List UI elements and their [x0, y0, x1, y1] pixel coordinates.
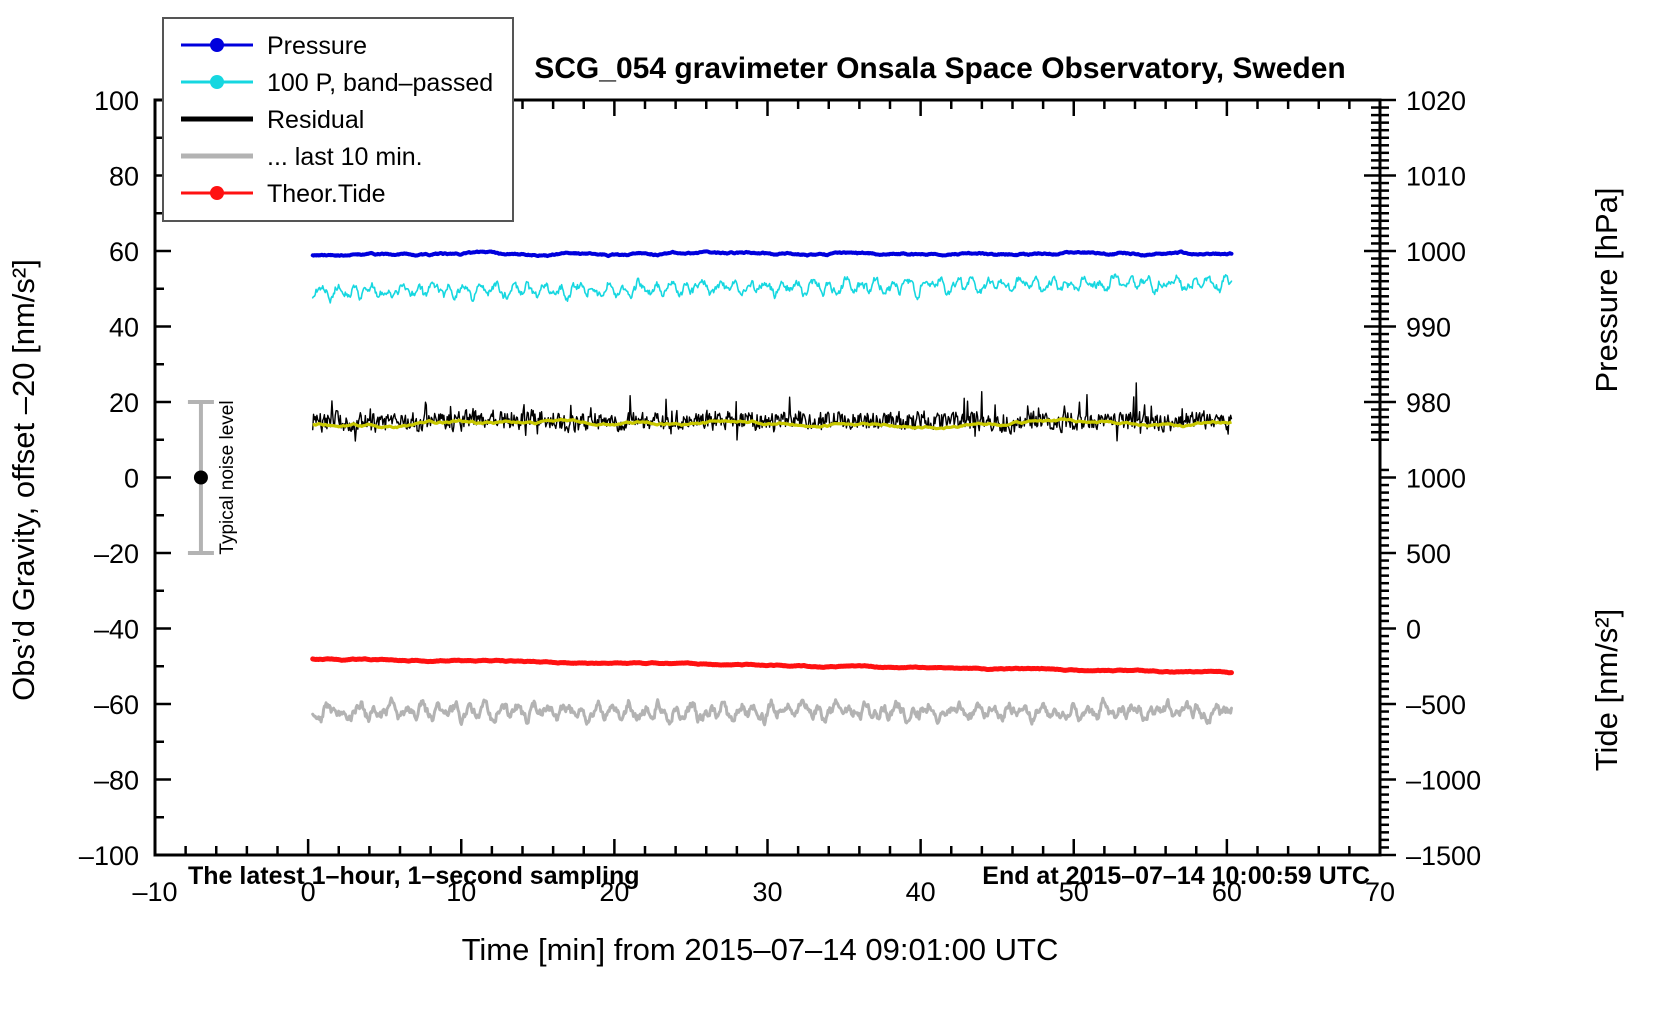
- tide-tick-label: 500: [1406, 539, 1451, 569]
- pressure-tick-label: 1010: [1406, 162, 1466, 192]
- tide-tick-label: 0: [1406, 615, 1421, 645]
- tide-tick-label: –1500: [1406, 841, 1481, 871]
- y-tick-label: –60: [94, 690, 139, 720]
- x-tick-label: 30: [752, 877, 782, 907]
- y-tick-label: –100: [79, 841, 139, 871]
- y-tick-label: 20: [109, 388, 139, 418]
- legend-marker-0: [210, 38, 224, 52]
- y-tick-label: 40: [109, 313, 139, 343]
- legend-label-0[interactable]: Pressure: [267, 32, 367, 60]
- legend-label-4[interactable]: Theor.Tide: [267, 180, 386, 208]
- chart-title: SCG_054 gravimeter Onsala Space Observat…: [534, 52, 1346, 85]
- pressure-tick-label: 980: [1406, 388, 1451, 418]
- y-axis-title: Obs’d Gravity, offset –20 [nm/s²]: [6, 259, 41, 701]
- y-tick-label: 60: [109, 237, 139, 267]
- tide-axis-title: Tide [nm/s²]: [1589, 609, 1624, 772]
- y-tick-label: 80: [109, 162, 139, 192]
- legend-label-1[interactable]: 100 P, band–passed: [267, 69, 493, 97]
- legend-label-2[interactable]: Residual: [267, 106, 364, 134]
- legend-label-3[interactable]: ... last 10 min.: [267, 143, 423, 171]
- tide-tick-label: –500: [1406, 690, 1466, 720]
- tide-tick-label: 1000: [1406, 464, 1466, 494]
- x-tick-label: 40: [906, 877, 936, 907]
- y-tick-label: –80: [94, 766, 139, 796]
- legend-marker-4: [210, 186, 224, 200]
- y-tick-label: –40: [94, 615, 139, 645]
- tide-tick-label: –1000: [1406, 766, 1481, 796]
- pressure-tick-label: 990: [1406, 313, 1451, 343]
- y-tick-label: 100: [94, 86, 139, 116]
- noise-center-dot: [194, 471, 208, 485]
- annotation-end-time: End at 2015–07–14 10:00:59 UTC: [982, 862, 1370, 890]
- gravimeter-plot-page: –10010203040506070 –100–80–60–40–2002040…: [0, 0, 1660, 1020]
- legend-marker-1: [210, 75, 224, 89]
- x-axis-title: Time [min] from 2015–07–14 09:01:00 UTC: [462, 932, 1059, 967]
- y-tick-label: –20: [94, 539, 139, 569]
- noise-level-label: Typical noise level: [217, 400, 238, 554]
- pressure-tick-label: 1020: [1406, 86, 1466, 116]
- y-tick-label: 0: [124, 464, 139, 494]
- gravimeter-chart: –10010203040506070 –100–80–60–40–2002040…: [0, 0, 1660, 1020]
- x-tick-label: –10: [132, 877, 177, 907]
- pressure-axis-title: Pressure [hPa]: [1589, 187, 1624, 392]
- chart-legend[interactable]: Pressure100 P, band–passedResidual... la…: [163, 18, 513, 221]
- pressure-tick-label: 1000: [1406, 237, 1466, 267]
- annotation-sampling-info: The latest 1–hour, 1–second sampling: [188, 862, 640, 890]
